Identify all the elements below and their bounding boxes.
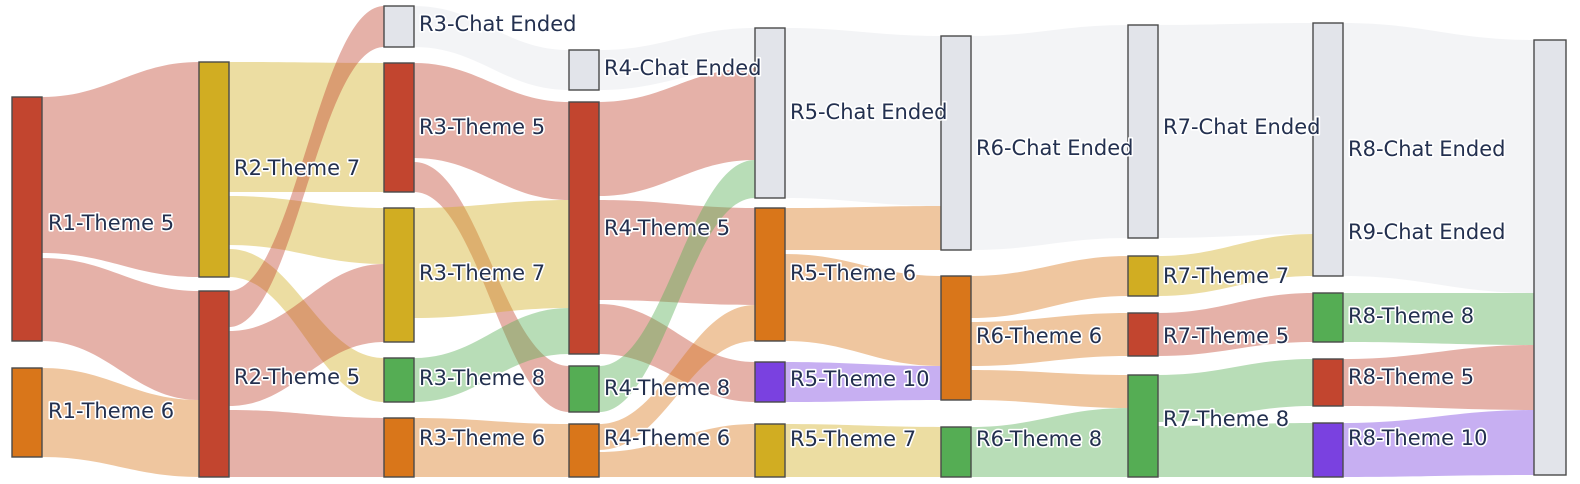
- sankey-node-label-r2t7: R2-Theme 7: [234, 156, 360, 180]
- sankey-node-label-r4t6: R4-Theme 6: [604, 426, 730, 450]
- sankey-node-label-r5ce: R5-Chat Ended: [790, 100, 947, 124]
- sankey-node-label-r7t5: R7-Theme 5: [1163, 324, 1289, 348]
- sankey-link[interactable]: [229, 196, 384, 264]
- sankey-node-r6t8[interactable]: [941, 427, 971, 477]
- sankey-node-label-r5t10: R5-Theme 10: [790, 367, 929, 391]
- sankey-node-label-r3t5: R3-Theme 5: [419, 115, 545, 139]
- sankey-node-label-r7t8: R7-Theme 8: [1163, 407, 1289, 431]
- sankey-node-label-r9ce: R9-Chat Ended: [1348, 220, 1505, 244]
- sankey-node-label-r8t8: R8-Theme 8: [1348, 304, 1474, 328]
- sankey-links-layer: [42, 6, 1534, 477]
- sankey-node-r5t7[interactable]: [755, 424, 785, 477]
- sankey-node-label-r3ce: R3-Chat Ended: [419, 12, 576, 36]
- sankey-node-label-r5t6: R5-Theme 6: [790, 261, 916, 285]
- sankey-node-r6t6[interactable]: [941, 276, 971, 400]
- sankey-node-label-r8t10: R8-Theme 10: [1348, 426, 1487, 450]
- sankey-node-r7ce[interactable]: [1128, 25, 1158, 238]
- sankey-node-r1t6[interactable]: [12, 368, 42, 457]
- sankey-node-r5t6[interactable]: [755, 208, 785, 341]
- sankey-node-r3t8[interactable]: [384, 358, 414, 402]
- sankey-link[interactable]: [971, 256, 1128, 318]
- sankey-node-r4t8[interactable]: [569, 366, 599, 412]
- sankey-node-label-r4ce: R4-Chat Ended: [604, 56, 761, 80]
- sankey-node-r2t7[interactable]: [199, 62, 229, 277]
- sankey-node-label-r6ce: R6-Chat Ended: [976, 136, 1133, 160]
- sankey-node-label-r8ce: R8-Chat Ended: [1348, 137, 1505, 161]
- sankey-node-label-r5t7: R5-Theme 7: [790, 427, 916, 451]
- sankey-node-label-r6t6: R6-Theme 6: [976, 324, 1102, 348]
- sankey-node-r3ce[interactable]: [384, 6, 414, 47]
- sankey-node-r7t8[interactable]: [1128, 375, 1158, 477]
- sankey-node-label-r7ce: R7-Chat Ended: [1163, 115, 1320, 139]
- sankey-node-label-r3t6: R3-Theme 6: [419, 426, 545, 450]
- sankey-node-r7t7[interactable]: [1128, 256, 1158, 296]
- sankey-node-r9ce[interactable]: [1534, 40, 1566, 475]
- sankey-diagram: R1-Theme 5R1-Theme 6R2-Theme 7R2-Theme 5…: [0, 0, 1580, 484]
- sankey-node-r4ce[interactable]: [569, 50, 599, 90]
- sankey-node-label-r6t8: R6-Theme 8: [976, 427, 1102, 451]
- sankey-node-label-r7t7: R7-Theme 7: [1163, 264, 1289, 288]
- sankey-node-label-r3t7: R3-Theme 7: [419, 261, 545, 285]
- sankey-node-r5t10[interactable]: [755, 362, 785, 402]
- sankey-link[interactable]: [414, 200, 569, 318]
- sankey-node-r8ce[interactable]: [1313, 23, 1343, 276]
- sankey-link[interactable]: [1158, 423, 1313, 477]
- sankey-node-r8t10[interactable]: [1313, 423, 1343, 477]
- sankey-link[interactable]: [229, 410, 384, 477]
- sankey-node-label-r8t5: R8-Theme 5: [1348, 365, 1474, 389]
- sankey-node-label-r1t5: R1-Theme 5: [48, 211, 174, 235]
- sankey-node-label-r1t6: R1-Theme 6: [48, 399, 174, 423]
- sankey-node-r8t5[interactable]: [1313, 359, 1343, 406]
- sankey-node-r7t5[interactable]: [1128, 313, 1158, 356]
- sankey-node-label-r2t5: R2-Theme 5: [234, 365, 360, 389]
- sankey-node-r4t5[interactable]: [569, 102, 599, 354]
- sankey-node-r1t5[interactable]: [12, 97, 42, 341]
- sankey-node-r6ce[interactable]: [941, 36, 971, 250]
- sankey-link[interactable]: [42, 62, 199, 277]
- sankey-node-r8t8[interactable]: [1313, 293, 1343, 342]
- sankey-node-r3t5[interactable]: [384, 63, 414, 192]
- sankey-canvas: R1-Theme 5R1-Theme 6R2-Theme 7R2-Theme 5…: [0, 0, 1580, 484]
- sankey-node-label-r4t5: R4-Theme 5: [604, 216, 730, 240]
- sankey-node-label-r3t8: R3-Theme 8: [419, 366, 545, 390]
- sankey-node-r4t6[interactable]: [569, 424, 599, 477]
- sankey-node-r2t5[interactable]: [199, 291, 229, 477]
- sankey-link[interactable]: [971, 370, 1128, 408]
- sankey-node-r3t6[interactable]: [384, 418, 414, 477]
- sankey-node-r3t7[interactable]: [384, 208, 414, 342]
- sankey-node-r5ce[interactable]: [755, 28, 785, 198]
- sankey-node-label-r4t8: R4-Theme 8: [604, 376, 730, 400]
- sankey-link[interactable]: [785, 206, 941, 250]
